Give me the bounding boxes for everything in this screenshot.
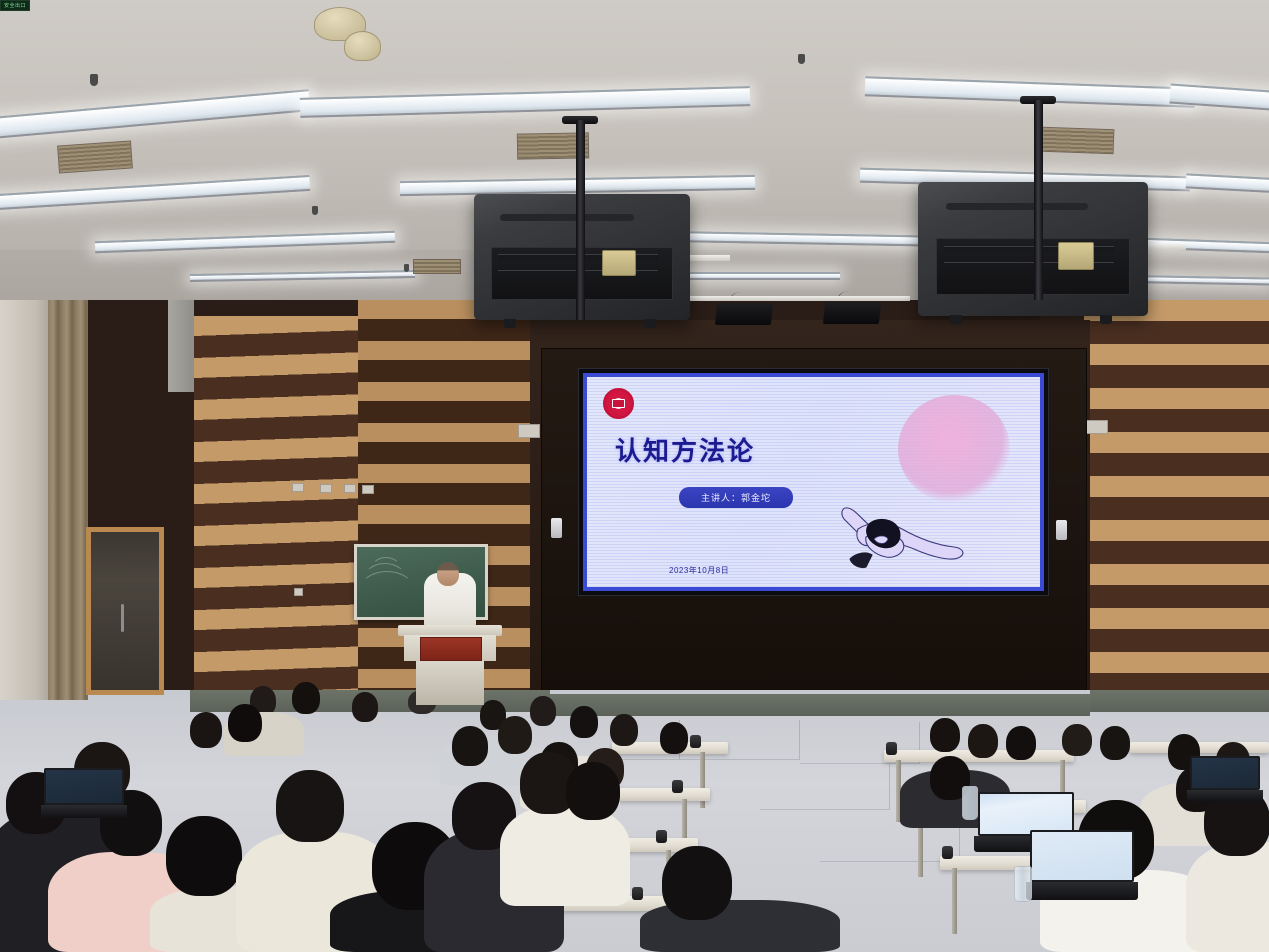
audience-head (662, 846, 732, 920)
exit-door[interactable] (86, 527, 164, 695)
chalk-marks (371, 557, 401, 581)
laptop-keyboard[interactable] (1187, 790, 1263, 802)
wall-outlet-plate (344, 484, 356, 493)
university-seal-icon (603, 388, 634, 419)
lectern-front-panel (420, 637, 482, 661)
audience-head (570, 706, 598, 738)
person-reading-illustration (836, 477, 986, 581)
student-laptop[interactable] (1190, 756, 1260, 802)
laptop-screen (44, 768, 124, 805)
stage-light (715, 303, 773, 325)
desk-end-cap (632, 887, 643, 900)
audience-head (498, 716, 532, 754)
wall-mount-bracket (1086, 420, 1108, 434)
floor-tile-grid (760, 764, 890, 810)
ceiling-vent (413, 259, 461, 274)
wall-speaker-small (1056, 520, 1067, 540)
wall-outlet-plate (320, 484, 332, 493)
audience-head (566, 762, 620, 820)
desk-end-cap (672, 780, 683, 793)
wall-shelf (1146, 244, 1186, 250)
wall-shelf (688, 255, 730, 261)
student-laptop[interactable] (1030, 830, 1134, 900)
audience-head (930, 718, 960, 752)
ceiling-monitor-right (918, 182, 1148, 316)
wall-panel-left (194, 316, 372, 700)
audience-shoulders (500, 806, 630, 906)
audience-head (292, 682, 320, 714)
laptop-screen (1030, 830, 1134, 882)
seal-emblem (612, 399, 625, 408)
left-pillar (0, 300, 52, 700)
ceiling-vent (57, 140, 133, 173)
slide-date: 2023年10月8日 (669, 565, 729, 576)
laptop-keyboard[interactable] (1026, 882, 1138, 900)
sprinkler-head-icon (798, 54, 805, 64)
wall-panel-right (1082, 300, 1269, 700)
audience-shoulders (1186, 842, 1269, 952)
slide-title: 认知方法论 (615, 431, 755, 468)
desk-leg (952, 868, 957, 934)
lecture-hall-photo: 安全出口 认知方法论 主讲人：郭金坨 2023年10月8日 (0, 0, 1269, 952)
laptop-screen (1190, 756, 1260, 790)
audience-head (610, 714, 638, 746)
audience-head (660, 722, 688, 754)
audience-head (968, 724, 998, 758)
monitor-media-box (1058, 242, 1094, 270)
ceiling-vent (1042, 127, 1115, 154)
floor-skirting (1090, 690, 1269, 712)
sprinkler-head-icon (90, 74, 98, 86)
window-curtain (48, 300, 88, 700)
student-laptop[interactable] (44, 768, 124, 818)
wall-outlet-plate (294, 588, 303, 596)
air-duct (168, 300, 194, 392)
audience-head (352, 692, 378, 722)
audience-head (1100, 726, 1130, 760)
wall-mount-bracket (518, 424, 540, 438)
monitor-foot (504, 319, 516, 328)
exit-sign-text: 安全出口 (4, 2, 26, 9)
desk-end-cap (886, 742, 897, 755)
audience-head (530, 696, 556, 726)
audience-head (452, 726, 488, 766)
lectern (398, 625, 502, 707)
desk-end-cap (690, 735, 701, 748)
audience-head (166, 816, 242, 896)
monitor-media-box (602, 250, 636, 276)
laptop-keyboard[interactable] (41, 805, 127, 818)
stage-light (823, 302, 881, 324)
led-screen[interactable]: 认知方法论 主讲人：郭金坨 2023年10月8日 (583, 373, 1044, 591)
audience-head (228, 704, 262, 742)
monitor-mount-pole (576, 120, 585, 320)
monitor-foot (1100, 315, 1112, 324)
presentation-slide: 认知方法论 主讲人：郭金坨 2023年10月8日 (587, 377, 1040, 587)
wall-outlet-plate (292, 483, 304, 492)
audience-head (276, 770, 344, 842)
desk-end-cap (656, 830, 667, 843)
monitor-foot (950, 315, 962, 324)
exit-sign: 安全出口 (0, 0, 30, 11)
audience-head (190, 712, 222, 748)
wall-speaker-small (551, 518, 562, 538)
door-handle[interactable] (121, 604, 124, 632)
sprinkler-head-icon (312, 206, 318, 215)
audience-head (1006, 726, 1036, 760)
audience-head (1062, 724, 1092, 756)
led-screen-bezel: 认知方法论 主讲人：郭金坨 2023年10月8日 (578, 368, 1049, 596)
floor-skirting (550, 694, 1090, 716)
desk-end-cap (942, 846, 953, 859)
monitor-mount-pole (1034, 100, 1043, 300)
presenter-head (437, 562, 459, 586)
lectern-base (416, 661, 484, 705)
ceiling-dome-speaker (344, 31, 381, 61)
water-bottle (1014, 866, 1032, 902)
lighting-truss (690, 296, 910, 301)
wall-outlet-plate (362, 485, 374, 494)
slide-presenter-badge: 主讲人：郭金坨 (679, 487, 793, 508)
monitor-foot (644, 319, 656, 328)
water-bottle (962, 786, 978, 820)
sprinkler-head-icon (404, 264, 409, 272)
